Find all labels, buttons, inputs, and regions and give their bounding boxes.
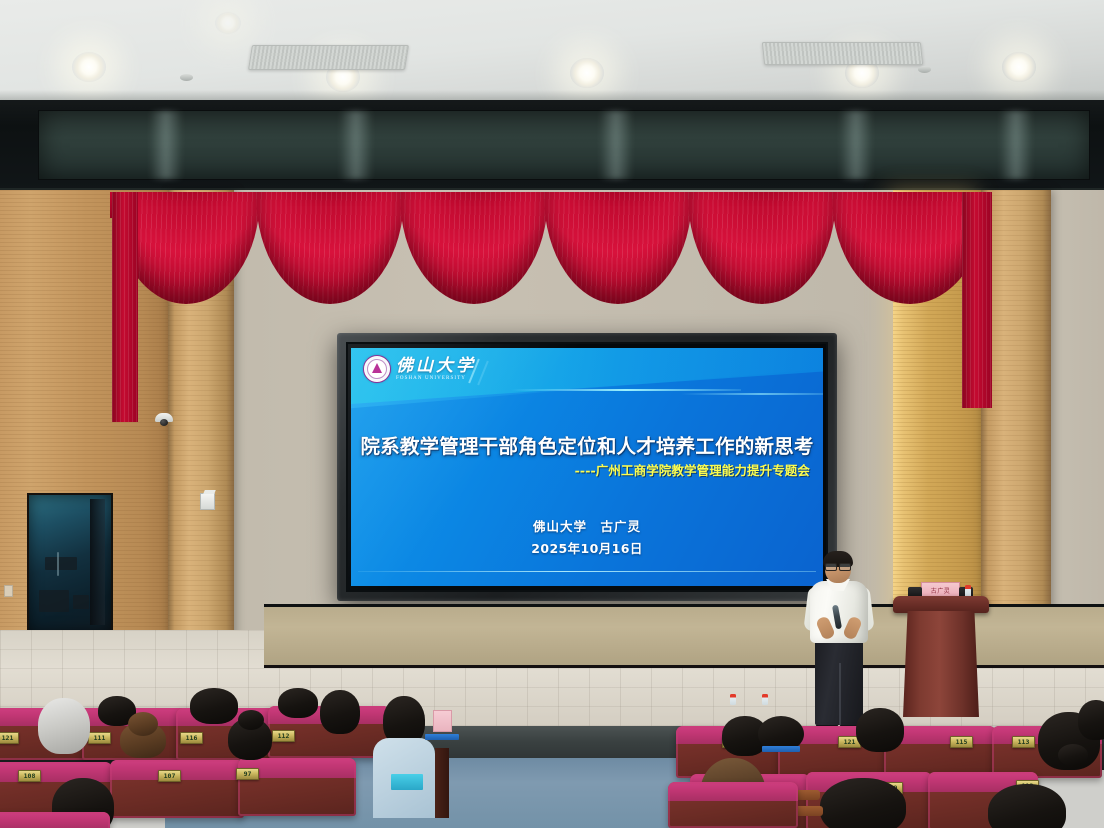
audience-head [278,688,318,718]
seat[interactable] [668,782,798,828]
curtain-swag [688,192,836,304]
smoke-detector-icon [180,74,193,81]
dome-security-camera-icon [155,413,173,422]
curtain-swag [400,192,548,304]
curtain-swag [256,192,404,304]
slide-date: 2025年10月16日 [351,538,823,557]
speaker-glasses-icon [825,563,851,569]
seat-number-plate: 107 [158,770,181,782]
curtain-left-drop [112,192,138,422]
seat[interactable] [0,812,110,828]
audience-head [1078,700,1104,740]
seat-number-plate: 113 [1012,736,1035,748]
seat-number-plate: 111 [88,732,111,744]
logo-chinese-name: 佛山大学 [396,357,476,374]
desk-panel [425,734,459,740]
audience-hair-bun [1058,744,1088,766]
slide-title: 院系教学管理干部角色定位和人才培养工作的新思考 [351,430,823,459]
podium-top [893,596,989,613]
audience-head [38,698,90,754]
slide-presenter: 佛山大学 古广灵 [351,516,823,535]
wall-mounted-sensor-icon [200,493,215,510]
stage-curtain-valance [110,192,990,322]
desk-panel [762,746,800,752]
curtain-right-drop [962,192,992,408]
seat-number-plate: 108 [18,770,41,782]
auditorium-scene: 佛山大学 FOSHAN UNIVERSITY 院系教学管理干部角色定位和人才培养… [0,0,1104,828]
control-room-window [27,493,113,634]
seat-number-plate: 116 [180,732,203,744]
seat-side-panel [435,748,449,818]
ceiling-air-vent [248,45,409,70]
seat-number-plate: 112 [272,730,295,742]
ceiling-downlight [215,12,241,34]
audience-head [190,688,238,724]
audience-aisle-person [385,690,475,828]
seat-number-plate: 121 [0,732,19,744]
seat[interactable] [110,760,244,818]
soffit-glass-panel [38,110,1090,180]
university-logo: 佛山大学 FOSHAN UNIVERSITY [363,355,476,383]
ceiling-soffit-beam [0,100,1104,192]
led-screen[interactable]: 佛山大学 FOSHAN UNIVERSITY 院系教学管理干部角色定位和人才培养… [346,342,828,592]
led-screen-frame: 佛山大学 FOSHAN UNIVERSITY 院系教学管理干部角色定位和人才培养… [337,333,837,601]
seat-number-plate: 97 [236,768,259,780]
seat-placard [433,710,452,732]
notebook [391,774,423,790]
ceiling-air-vent [762,42,923,65]
audience-hair-bun [238,710,264,730]
audience-hair-bun [128,712,158,736]
audience-head [820,778,906,828]
smoke-detector-icon [918,66,931,73]
water-bottle-icon [730,694,736,705]
presentation-slide: 佛山大学 FOSHAN UNIVERSITY 院系教学管理干部角色定位和人才培养… [351,348,823,586]
audience-head [320,690,360,734]
ceiling-downlight [570,58,604,88]
water-bottle-icon [762,694,768,705]
curtain-swag [544,192,692,304]
audience-head [988,784,1066,828]
wall-outlet-icon [4,585,13,597]
ceiling [0,0,1104,104]
seat[interactable] [238,758,356,816]
university-seal-icon [363,355,391,383]
slide-subtitle: ----广州工商学院教学管理能力提升专题会 [575,460,810,479]
logo-english-name: FOSHAN UNIVERSITY [396,376,476,381]
audience-head [856,708,904,752]
ceiling-downlight [1002,52,1036,82]
ceiling-downlight [72,52,106,82]
seat-number-plate: 115 [950,736,973,748]
seat-armrest-rail [795,806,823,816]
slide-footer-rule [358,571,816,572]
